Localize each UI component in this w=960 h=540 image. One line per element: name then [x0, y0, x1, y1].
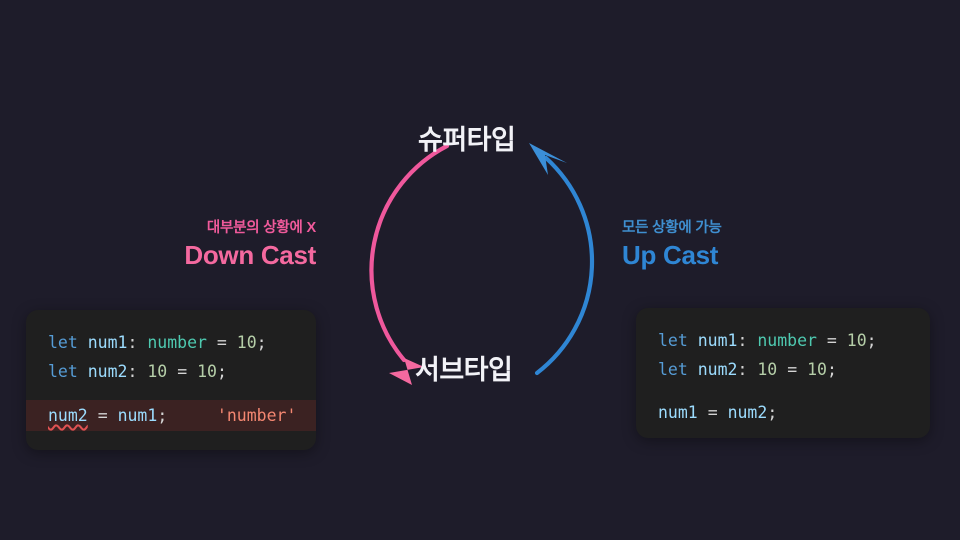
code-token: :	[128, 362, 138, 381]
code-token: :	[738, 331, 748, 350]
code-token: :	[128, 333, 138, 352]
cast-cycle-diagram	[0, 0, 960, 540]
code-token: let	[658, 331, 688, 350]
code-token: =	[98, 406, 108, 425]
code-token	[78, 333, 88, 352]
code-token	[747, 360, 757, 379]
code-panel-up-cast: let num1: number = 10;let num2: 10 = 10;…	[636, 308, 930, 438]
code-panel-down-cast: let num1: number = 10;let num2: 10 = 10;…	[26, 310, 316, 450]
diagram-stage: 슈퍼타입 서브타입 대부분의 상황에 X Down Cast 모든 상황에 가능…	[0, 0, 960, 540]
down-cast-caption-block: 대부분의 상황에 X Down Cast	[184, 220, 316, 271]
code-token: num2	[48, 406, 88, 425]
code-token: 10	[237, 333, 257, 352]
down-cast-subtitle: 대부분의 상황에 X	[184, 220, 316, 237]
code-token	[777, 360, 787, 379]
code-line: let num2: 10 = 10;	[636, 355, 930, 384]
code-token: =	[787, 360, 797, 379]
code-token: let	[48, 333, 78, 352]
code-token: :	[738, 360, 748, 379]
code-token	[837, 331, 847, 350]
code-token: 10	[197, 362, 217, 381]
code-token: =	[217, 333, 227, 352]
code-token: num1	[698, 331, 738, 350]
code-token: ;	[217, 362, 227, 381]
code-line	[26, 386, 316, 400]
code-token: num1	[118, 406, 158, 425]
code-token	[227, 333, 237, 352]
up-cast-title: Up Cast	[622, 241, 722, 271]
code-token: number	[147, 333, 207, 352]
code-token	[137, 333, 147, 352]
code-line: num1 = num2;	[636, 398, 930, 427]
code-token	[167, 362, 177, 381]
code-token: ;	[827, 360, 837, 379]
code-token	[688, 331, 698, 350]
code-token: ;	[257, 333, 267, 352]
code-token: 10	[147, 362, 167, 381]
code-line: let num1: number = 10;	[636, 326, 930, 355]
code-token	[187, 362, 197, 381]
code-token	[108, 406, 118, 425]
code-token	[747, 331, 757, 350]
code-token: let	[658, 360, 688, 379]
code-token	[797, 360, 807, 379]
code-token: 10	[757, 360, 777, 379]
code-token: =	[177, 362, 187, 381]
code-token: 10	[807, 360, 827, 379]
up-cast-subtitle: 모든 상황에 가능	[622, 220, 722, 237]
node-label-subtype: 서브타입	[415, 357, 512, 384]
code-line: let num2: 10 = 10;	[26, 357, 316, 386]
code-token: =	[708, 403, 718, 422]
code-token	[718, 403, 728, 422]
code-token: let	[48, 362, 78, 381]
code-line: let num1: number = 10;	[26, 328, 316, 357]
code-token: num2	[728, 403, 768, 422]
code-token	[698, 403, 708, 422]
code-token: 10	[847, 331, 867, 350]
down-cast-arc	[371, 146, 447, 360]
code-token: ;	[157, 406, 167, 425]
code-token: num2	[88, 362, 128, 381]
code-token: num1	[658, 403, 698, 422]
code-token	[88, 406, 98, 425]
code-token: 'number'	[217, 406, 296, 425]
code-token	[167, 406, 217, 425]
code-token	[817, 331, 827, 350]
code-line	[636, 384, 930, 398]
code-token: num2	[698, 360, 738, 379]
code-token	[207, 333, 217, 352]
code-token: ;	[767, 403, 777, 422]
code-token: num1	[88, 333, 128, 352]
node-label-supertype: 슈퍼타입	[418, 127, 515, 154]
code-token: ;	[867, 331, 877, 350]
down-cast-title: Down Cast	[184, 241, 316, 271]
up-cast-caption-block: 모든 상황에 가능 Up Cast	[622, 220, 722, 271]
code-token: number	[757, 331, 817, 350]
code-token	[137, 362, 147, 381]
code-token	[78, 362, 88, 381]
up-cast-arc	[537, 158, 592, 373]
code-token	[688, 360, 698, 379]
code-line-error: num2 = num1; 'number'	[26, 400, 316, 431]
code-token: =	[827, 331, 837, 350]
up-cast-arrowhead	[529, 143, 567, 175]
